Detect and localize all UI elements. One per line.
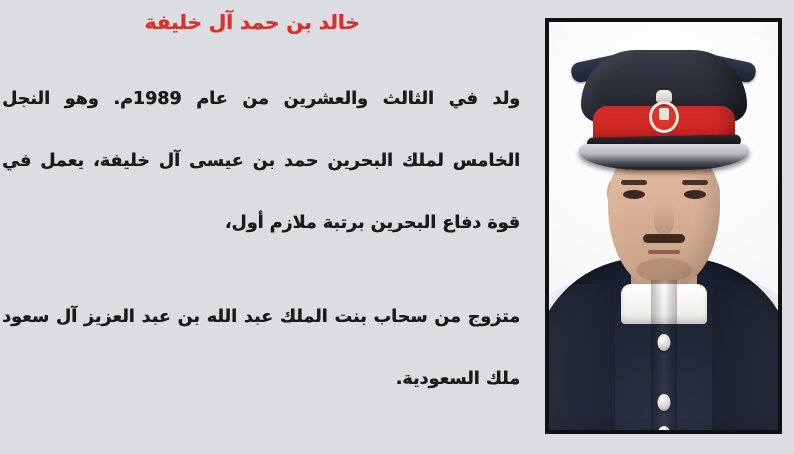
paragraph-biography: ولد في الثالث والعشرين من عام 1989م. وهو…: [2, 68, 520, 254]
badge-center-icon: [659, 108, 669, 120]
eye-right: [684, 190, 706, 199]
uniform-button: [657, 394, 670, 411]
eyebrow-left: [621, 180, 647, 185]
eyebrow-right: [682, 180, 708, 185]
document-page: خالد بن حمد آل خليفة ولد في الثالث والعش…: [0, 0, 794, 454]
mouth: [648, 250, 680, 254]
chin-shadow: [636, 258, 692, 282]
cap-peak: [579, 144, 749, 170]
eye-left: [623, 190, 645, 199]
moustache: [643, 234, 685, 243]
nose: [654, 204, 674, 234]
portrait-photo-frame: [545, 18, 782, 434]
paragraph-marriage: متزوج من سحاب بنت الملك عبد الله بن عبد …: [2, 286, 520, 410]
uniform-button: [657, 334, 670, 351]
peaked-cap: [575, 50, 753, 176]
cap-badge-icon: [652, 90, 676, 128]
page-title: خالد بن حمد آل خليفة: [2, 8, 502, 36]
portrait-photo: [549, 22, 778, 430]
text-column: خالد بن حمد آل خليفة ولد في الثالث والعش…: [0, 0, 524, 454]
